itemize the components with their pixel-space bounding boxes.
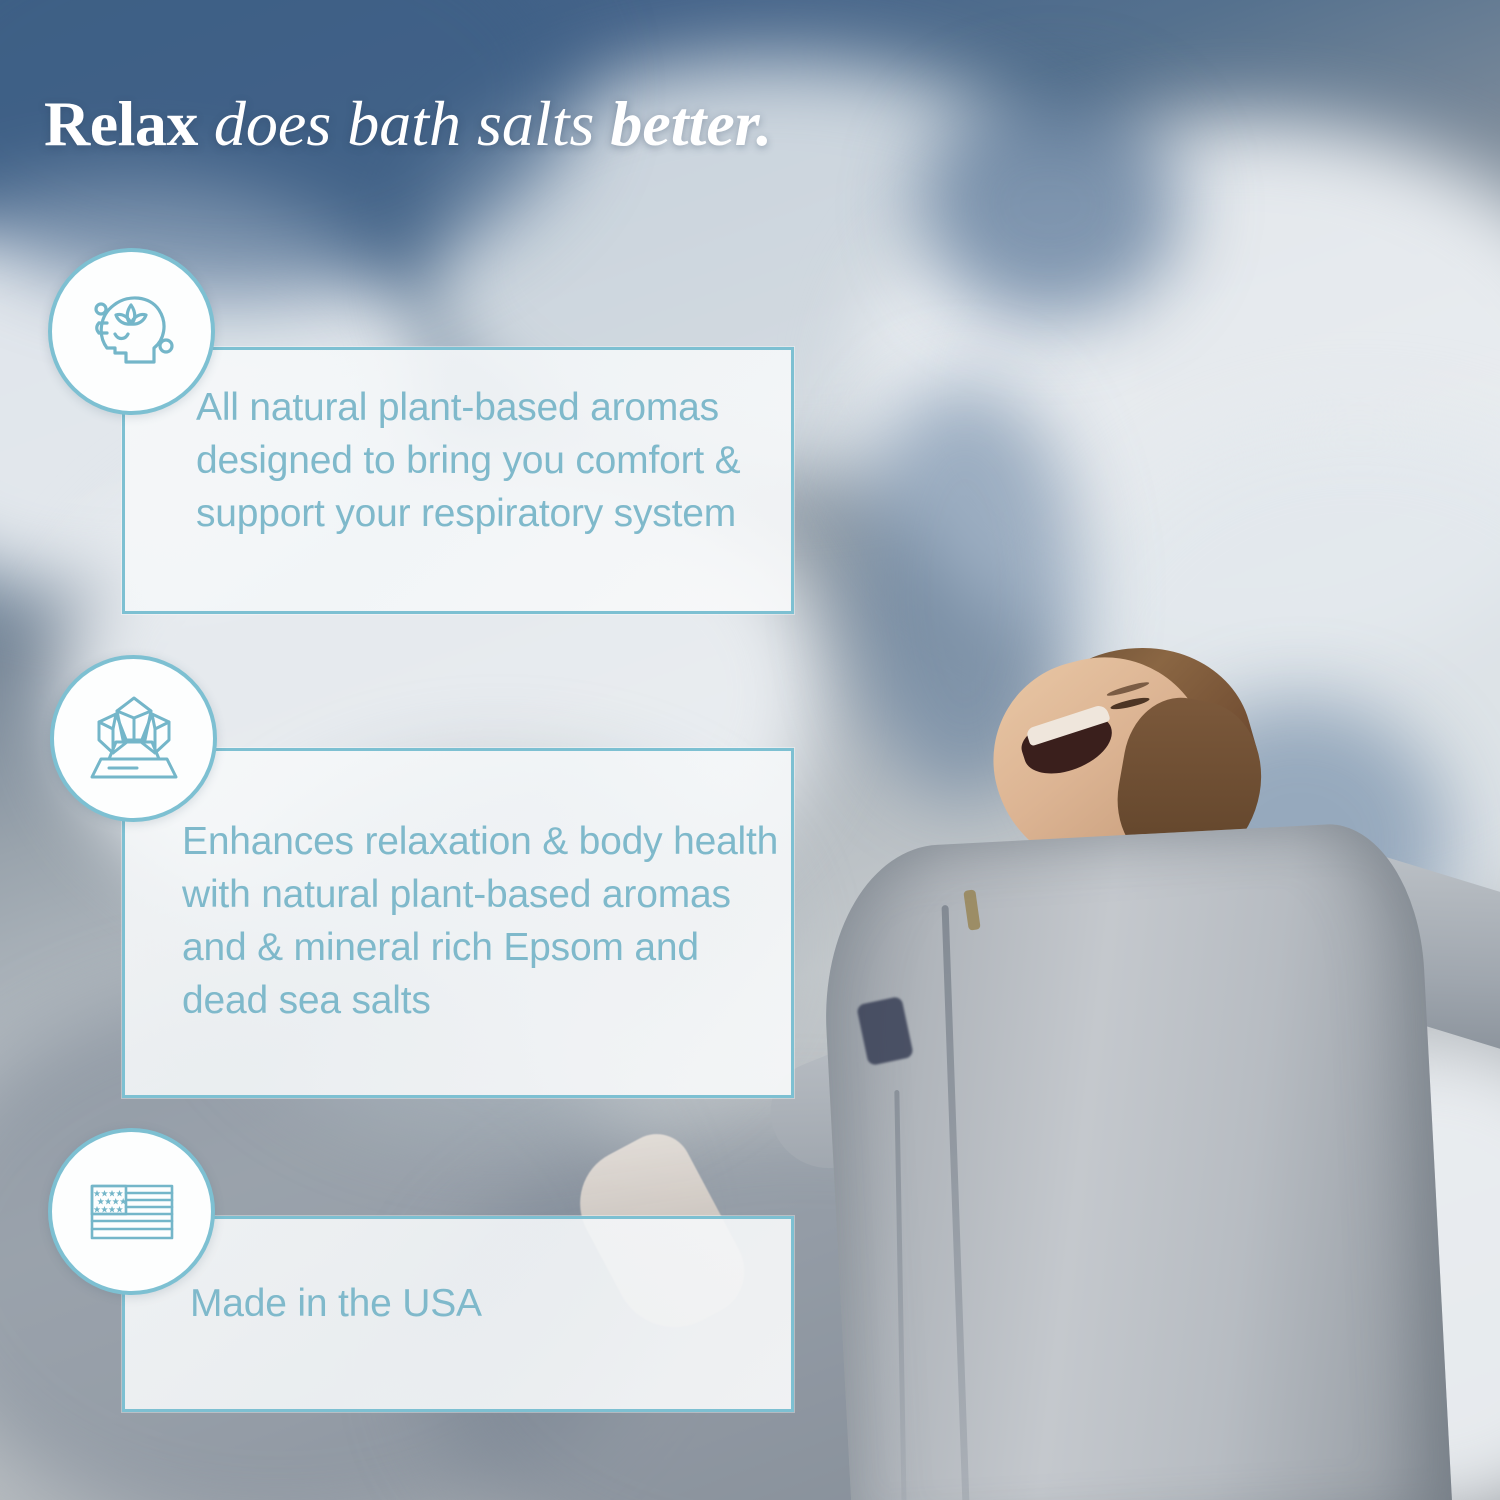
feature-2-text: Enhances relaxation & body health with n… [182, 815, 782, 1027]
headline-brand: Relax [44, 88, 198, 159]
feature-1-text: All natural plant-based aromas designed … [196, 381, 776, 540]
feature-3-text: Made in the USA [190, 1277, 770, 1330]
salt-crystal-cluster-icon [50, 655, 217, 822]
usa-flag-icon [48, 1128, 215, 1295]
head-lotus-mindfulness-icon [48, 248, 215, 415]
headline-emphasis: better. [610, 88, 772, 159]
product-feature-poster: Relax does bath salts better. All natura… [0, 0, 1500, 1500]
headline: Relax does bath salts better. [44, 92, 772, 156]
headline-middle: does bath salts [198, 88, 610, 159]
